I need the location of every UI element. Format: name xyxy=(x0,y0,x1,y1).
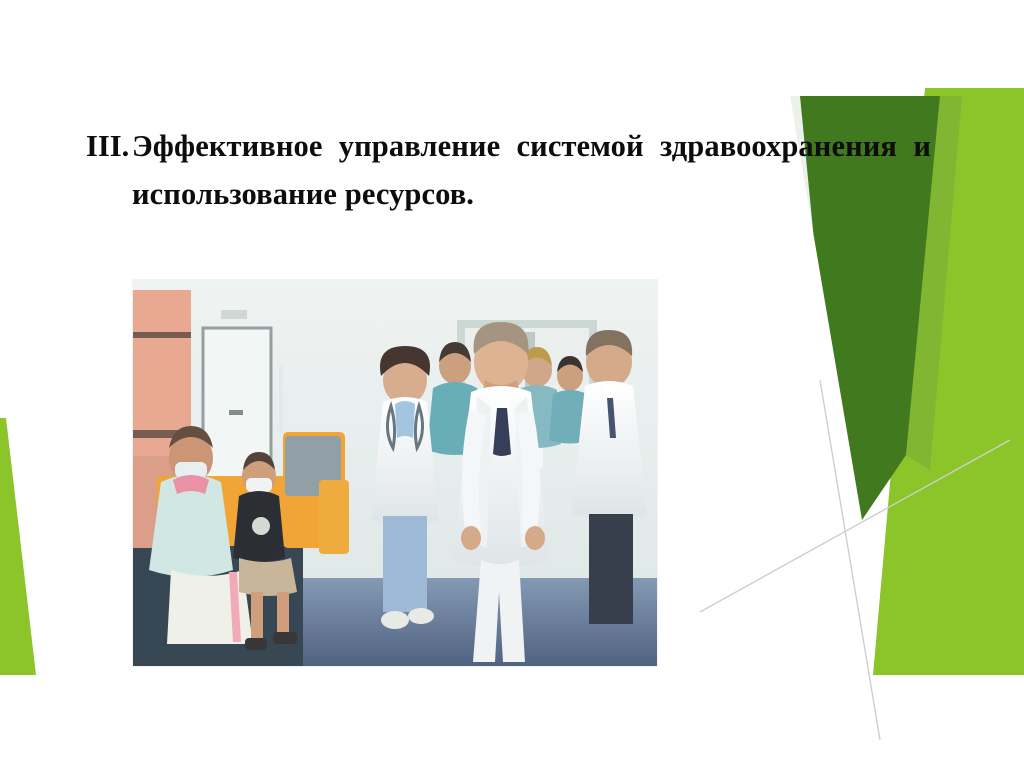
title-wrapper: III. Эффективное управление системой здр… xyxy=(86,122,931,218)
left-green-wedge xyxy=(0,418,36,675)
presentation-slide: III. Эффективное управление системой здр… xyxy=(0,0,1024,767)
page-title: Эффективное управление системой здравоох… xyxy=(132,122,931,218)
slide-photo xyxy=(133,280,657,666)
photo-illustration xyxy=(133,280,657,666)
diagonal-hairline-2 xyxy=(820,380,880,740)
title-enumerator: III. xyxy=(86,122,129,170)
diagonal-hairline-1 xyxy=(700,440,1010,612)
slide-title-block: III. Эффективное управление системой здр… xyxy=(86,122,931,218)
